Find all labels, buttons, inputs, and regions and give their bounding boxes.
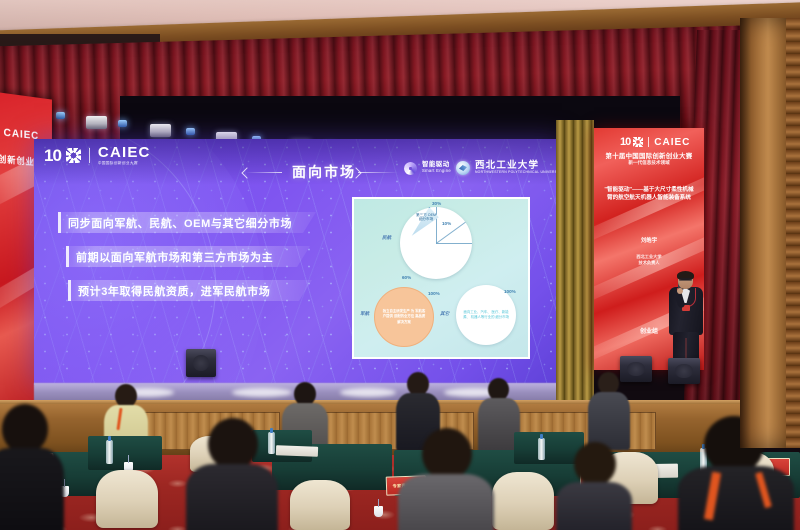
slide-bullet-2-text: 前期以面向军航市场和第三方市场为主 — [66, 249, 273, 265]
npu-crest-icon — [456, 161, 470, 175]
partner-logo-row: 智能驱动 Smart Engine 西北工业大学 NORTHWESTERN PO… — [404, 161, 563, 175]
right-banner-presenter-name: 刘皓宇 — [594, 236, 704, 244]
conference-hall-screenshot: CAIEC 创新创业大赛 10 CAIEC 中国国际创新创业大赛 面向市场 智能… — [0, 0, 800, 530]
circle-metric-qita-label: 其它 — [440, 311, 449, 317]
circle-metric-junhang: 独立自主研发生产 为 军航客户提供 适配的全方位 高品质解决方案 — [374, 287, 434, 347]
right-banner-subhead: 新一代信息技术领域 — [594, 160, 704, 166]
pie-slice-divider — [436, 243, 472, 244]
logo-divider — [648, 137, 649, 147]
caiec-wordmark: CAIEC — [98, 145, 151, 160]
smart-engine-en: Smart Engine — [422, 169, 451, 173]
market-share-chart: 第三方 OEM 细分市场 30% 10% 60% 民航 独立自主研发生产 为 军… — [352, 197, 530, 359]
audience-chair — [96, 470, 158, 528]
pie-label-bottom: 60% — [402, 275, 411, 280]
slide-bullet-3-text: 预计3年取得民航资质，进军民航市场 — [68, 283, 270, 299]
stage-monitor-speaker — [186, 349, 216, 377]
pie-slice-divider — [436, 207, 437, 243]
slide-bullet-3: 预计3年取得民航资质，进军民航市场 — [68, 280, 312, 301]
person-head — [574, 442, 616, 486]
person-torso — [678, 466, 794, 530]
circle-metric-junhang-text: 独立自主研发生产 为 军航客户提供 适配的全方位 高品质解决方案 — [382, 309, 426, 324]
pie-series-label: 民航 — [382, 235, 391, 241]
stage-spot-light — [186, 128, 195, 135]
audience-chair — [492, 472, 554, 530]
caiec-wordmark: CAIEC — [654, 137, 690, 148]
audience-person — [588, 372, 630, 448]
logo-divider — [89, 148, 90, 163]
circle-metric-qita-text: 面向工业、汽车、 医疗、新能源、 机器人等行业的 细分市场 — [463, 310, 509, 321]
person-head — [208, 418, 258, 470]
stage-monitor-speaker — [668, 358, 700, 384]
caiec-logo-right: 10 CAIEC — [620, 136, 690, 148]
person-torso — [556, 482, 632, 530]
right-banner-headline: 第十届中国国际创新创业大赛 — [594, 151, 704, 160]
presenter-glasses — [679, 278, 692, 281]
anniversary-number: 10 — [44, 147, 61, 164]
audience-person-foreground — [556, 442, 632, 530]
stage-light — [86, 116, 107, 129]
person-torso — [0, 448, 64, 530]
circle-metric-qita-value: 100% — [504, 289, 516, 294]
caiec-subtitle: 中国国际创新创业大赛 — [98, 162, 151, 166]
banner-light-streak — [594, 160, 704, 248]
stage-spot-light — [56, 112, 65, 119]
pillar-carving — [786, 18, 800, 448]
audience-person-foreground — [398, 428, 494, 530]
right-banner-project-title: "智能驱动"——基于大尺寸柔性机械臂的航空航天机器人智能装备系统 — [594, 186, 704, 203]
audience-chair — [290, 480, 350, 530]
bullet-cap — [58, 212, 61, 233]
npu-name-en: NORTHWESTERN POLYTECHNICAL UNIVERSITY — [475, 171, 563, 175]
right-banner-affiliation: 西北工业大学 技术负责人 — [594, 254, 704, 267]
spiral-icon — [404, 162, 417, 175]
document-paper — [276, 445, 318, 456]
slide-bullet-1: 同步面向军航、民航、OEM与其它细分市场 — [58, 212, 316, 233]
circle-metric-qita: 面向工业、汽车、 医疗、新能源、 机器人等行业的 细分市场 — [456, 285, 516, 345]
caiec-logo: 10 CAIEC 中国国际创新创业大赛 — [44, 145, 151, 166]
audience-person-foreground — [186, 418, 278, 530]
slide-bullet-2: 前期以面向军航市场和第三方市场为主 — [66, 246, 310, 267]
floor-highlight — [340, 388, 396, 397]
stage-spot-light — [118, 120, 127, 127]
pie-label-right: 10% — [442, 221, 451, 226]
circle-metric-junhang-value: 100% — [428, 291, 440, 296]
gear-icon — [66, 148, 81, 163]
stage-light — [150, 124, 171, 137]
pie-label-top: 30% — [432, 201, 441, 206]
presenter-on-stage — [664, 272, 708, 370]
person-torso — [398, 474, 494, 530]
person-head — [2, 404, 48, 454]
circle-metric-junhang-label: 军航 — [360, 311, 369, 317]
water-bottle — [106, 440, 113, 464]
gear-icon — [633, 137, 643, 147]
person-head — [422, 428, 472, 480]
title-rule-right — [358, 172, 398, 173]
slide-title: 面向市场 — [292, 162, 356, 182]
water-bottle — [538, 438, 545, 460]
paper-cup — [374, 506, 383, 517]
bullet-cap — [66, 246, 69, 267]
pie-exploded-slice-label: 第三方 OEM 细分市场 — [416, 213, 436, 222]
audience-person-foreground — [0, 404, 64, 530]
bullet-cap — [68, 280, 71, 301]
anniversary-number: 10 — [620, 136, 630, 148]
slide-bullet-1-text: 同步面向军航、民航、OEM与其它细分市场 — [58, 215, 292, 231]
presenter-hand — [677, 288, 683, 294]
person-torso — [186, 464, 278, 530]
